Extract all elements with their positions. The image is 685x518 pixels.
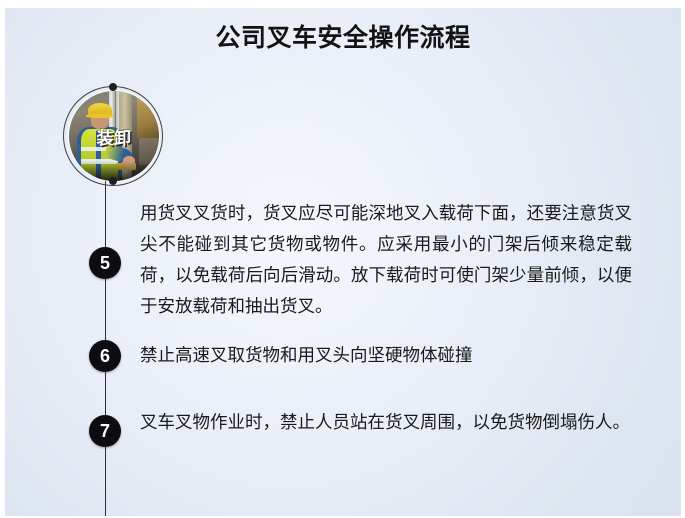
step-badge-7[interactable]: 7 [89, 415, 121, 447]
page-title: 公司叉车安全操作流程 [5, 25, 681, 53]
worker-photo: 装卸 [69, 91, 159, 181]
step-text-5: 用货叉叉货时，货叉应尽可能深地叉入载荷下面，还要注意货叉尖不能碰到其它货物或物件… [140, 198, 632, 322]
step-text-7: 叉车叉物作业时，禁止人员站在货叉周围，以免货物倒塌伤人。 [140, 407, 632, 438]
step-text-6: 禁止高速叉取货物和用叉头向坚硬物体碰撞 [140, 340, 632, 371]
node-dot-top [109, 83, 117, 91]
slide-canvas: 公司叉车安全操作流程 装卸 5 用货叉叉 [5, 8, 681, 516]
step-badge-5[interactable]: 5 [89, 247, 121, 279]
worker-face-shadow [91, 118, 110, 129]
photo-node: 装卸 [63, 86, 165, 188]
node-dot-bottom [109, 177, 117, 185]
photo-shelf-upper-right [137, 96, 159, 137]
step-badge-6[interactable]: 6 [89, 340, 121, 372]
